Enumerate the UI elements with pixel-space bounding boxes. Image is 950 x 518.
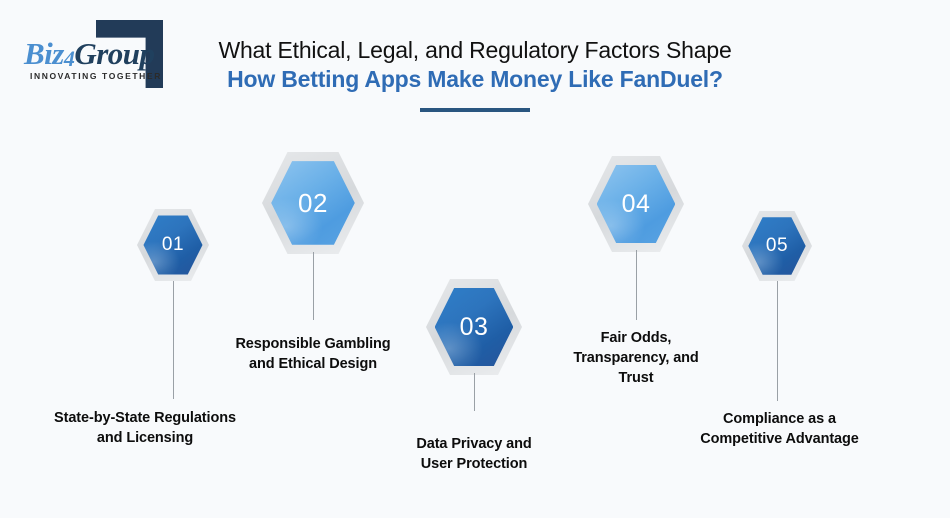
- hexagon-badge-04[interactable]: 04: [588, 156, 684, 252]
- caption-line-2-05: Competitive Advantage: [652, 429, 907, 449]
- connector-line-03: [474, 373, 475, 411]
- caption-line-3-04: Trust: [536, 368, 736, 388]
- hexagon-number-02: 02: [262, 152, 364, 254]
- hexagon-number-03: 03: [426, 279, 522, 375]
- hexagon-number-04: 04: [588, 156, 684, 252]
- caption-line-2-02: and Ethical Design: [193, 354, 433, 374]
- hexagon-badge-01[interactable]: 01: [137, 209, 209, 281]
- caption-line-1-02: Responsible Gambling: [193, 334, 433, 354]
- connector-line-02: [313, 252, 314, 320]
- hexagon-badge-03[interactable]: 03: [426, 279, 522, 375]
- steps-container: 01 State-by-State Regulations and Licens…: [0, 0, 950, 518]
- step-caption-04: Fair Odds, Transparency, and Trust: [536, 328, 736, 388]
- caption-line-1-01: State-by-State Regulations: [20, 408, 270, 428]
- step-caption-03: Data Privacy and User Protection: [379, 434, 569, 474]
- caption-line-2-01: and Licensing: [20, 428, 270, 448]
- hexagon-number-05: 05: [742, 211, 812, 281]
- connector-line-01: [173, 281, 174, 399]
- hexagon-number-01: 01: [137, 209, 209, 281]
- connector-line-05: [777, 281, 778, 401]
- caption-line-1-05: Compliance as a: [652, 409, 907, 429]
- caption-line-2-04: Transparency, and: [536, 348, 736, 368]
- step-caption-05: Compliance as a Competitive Advantage: [652, 409, 907, 449]
- caption-line-2-03: User Protection: [379, 454, 569, 474]
- connector-line-04: [636, 250, 637, 320]
- hexagon-badge-05[interactable]: 05: [742, 211, 812, 281]
- caption-line-1-03: Data Privacy and: [379, 434, 569, 454]
- caption-line-1-04: Fair Odds,: [536, 328, 736, 348]
- hexagon-badge-02[interactable]: 02: [262, 152, 364, 254]
- step-caption-01: State-by-State Regulations and Licensing: [20, 408, 270, 448]
- step-caption-02: Responsible Gambling and Ethical Design: [193, 334, 433, 374]
